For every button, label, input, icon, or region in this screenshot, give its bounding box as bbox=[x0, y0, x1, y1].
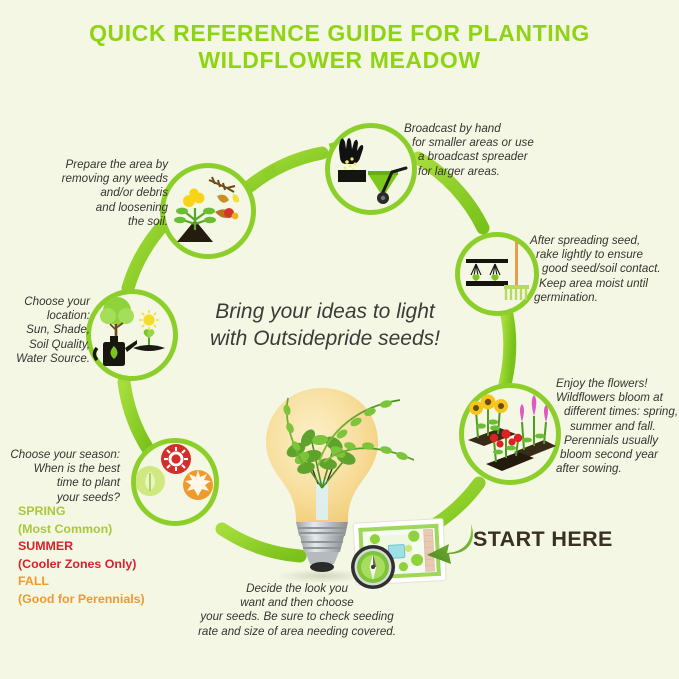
caption-decide-look: Decide the look you want and then choose… bbox=[172, 582, 422, 639]
step-node-enjoy-flowers[interactable] bbox=[459, 383, 561, 485]
caption-line: and loosening bbox=[40, 201, 168, 215]
caption-line: time to plant bbox=[8, 476, 120, 490]
season-note-fall: (Good for Perennials) bbox=[18, 591, 178, 609]
caption-line: different times: spring, bbox=[556, 405, 679, 419]
season-note-spring: (Most Common) bbox=[18, 521, 178, 539]
hand-seeding-spreader-icon bbox=[330, 128, 412, 210]
caption-line: location: bbox=[2, 309, 90, 323]
caption-line: after sowing. bbox=[556, 462, 679, 476]
rake-seedlings-icon bbox=[460, 237, 534, 311]
caption-line: When is the best bbox=[8, 462, 120, 476]
center-tagline: Bring your ideas to light with Outsidepr… bbox=[190, 298, 460, 352]
caption-line: want and then choose bbox=[172, 596, 422, 610]
caption-line: rake lightly to ensure bbox=[530, 248, 679, 262]
tagline-line2: with Outsidepride seeds! bbox=[190, 325, 460, 352]
caption-line: Wildflowers bloom at bbox=[556, 391, 679, 405]
caption-rake-lightly: After spreading seed, rake lightly to en… bbox=[530, 234, 679, 305]
caption-line: Keep area moist until bbox=[530, 277, 679, 291]
weeds-debris-soil-icon bbox=[165, 168, 251, 254]
caption-line: Soil Quality, bbox=[2, 338, 90, 352]
caption-line: Broadcast by hand bbox=[404, 122, 579, 136]
caption-line: Decide the look you bbox=[172, 582, 422, 596]
caption-line: summer and fall. bbox=[556, 420, 679, 434]
caption-choose-season: Choose your season: When is the best tim… bbox=[8, 448, 120, 505]
caption-line: Water Source. bbox=[2, 352, 90, 366]
caption-line: bloom second year bbox=[556, 448, 679, 462]
infographic-canvas: QUICK REFERENCE GUIDE FOR PLANTING WILDF… bbox=[0, 0, 679, 679]
caption-choose-location: Choose your location: Sun, Shade, Soil Q… bbox=[2, 295, 90, 366]
season-legend: SPRING (Most Common) SUMMER (Cooler Zone… bbox=[18, 503, 178, 608]
caption-line: Choose your bbox=[2, 295, 90, 309]
caption-line: Sun, Shade, bbox=[2, 323, 90, 337]
step-node-prepare-area[interactable] bbox=[160, 163, 256, 259]
start-here-label: START HERE bbox=[473, 527, 613, 552]
season-note-summer: (Cooler Zones Only) bbox=[18, 556, 178, 574]
caption-line: good seed/soil contact. bbox=[530, 262, 679, 276]
step-node-choose-location[interactable] bbox=[86, 289, 178, 381]
caption-line: germination. bbox=[530, 291, 679, 305]
season-name-fall: FALL bbox=[18, 573, 178, 591]
season-name-spring: SPRING bbox=[18, 503, 178, 521]
caption-line: Prepare the area by bbox=[40, 158, 168, 172]
step-node-rake-lightly[interactable] bbox=[455, 232, 539, 316]
caption-line: for larger areas. bbox=[404, 165, 579, 179]
caption-line: your seeds. Be sure to check seeding bbox=[172, 610, 422, 624]
caption-line: rate and size of area needing covered. bbox=[172, 625, 422, 639]
caption-line: Enjoy the flowers! bbox=[556, 377, 679, 391]
caption-line: a broadcast spreader bbox=[404, 150, 579, 164]
caption-prepare-area: Prepare the area by removing any weeds a… bbox=[40, 158, 168, 229]
caption-line: the soil. bbox=[40, 215, 168, 229]
caption-broadcast-seed: Broadcast by hand for smaller areas or u… bbox=[404, 122, 579, 179]
caption-line: and/or debris bbox=[40, 186, 168, 200]
tagline-line1: Bring your ideas to light bbox=[190, 298, 460, 325]
flower-beds-icon bbox=[464, 388, 556, 480]
caption-line: Perennials usually bbox=[556, 434, 679, 448]
caption-enjoy-flowers: Enjoy the flowers! Wildflowers bloom at … bbox=[556, 377, 679, 476]
caption-line: Choose your season: bbox=[8, 448, 120, 462]
curved-arrow-icon bbox=[425, 520, 477, 564]
caption-line: removing any weeds bbox=[40, 172, 168, 186]
tree-sun-wateringcan-icon bbox=[91, 294, 173, 376]
season-name-summer: SUMMER bbox=[18, 538, 178, 556]
caption-line: After spreading seed, bbox=[530, 234, 679, 248]
caption-line: for smaller areas or use bbox=[404, 136, 579, 150]
